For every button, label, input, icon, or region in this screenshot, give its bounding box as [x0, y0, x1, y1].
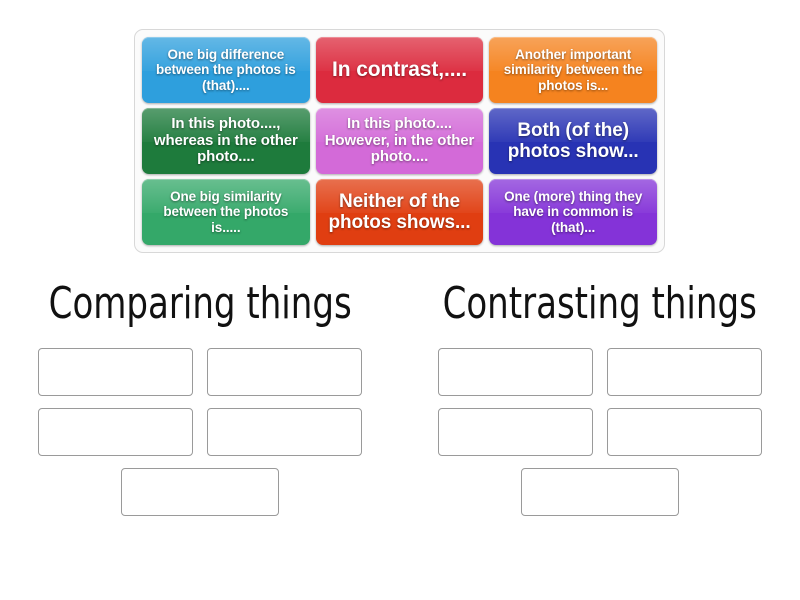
dropzone-slot[interactable]	[207, 408, 362, 456]
tile-label: Neither of the photos shows...	[321, 191, 479, 234]
draggable-tile[interactable]: In contrast,....	[316, 37, 484, 103]
draggable-tile[interactable]: One (more) thing they have in common is …	[489, 179, 657, 245]
dropzone-slot[interactable]	[38, 348, 193, 396]
draggable-tile[interactable]: Both (of the) photos show...	[489, 108, 657, 174]
group-column-comparing: Comparing things	[0, 282, 400, 516]
draggable-tile[interactable]: In this photo.... However, in the other …	[316, 108, 484, 174]
tile-label: One big difference between the photos is…	[147, 47, 305, 92]
dropzone-grid	[425, 348, 775, 516]
draggable-tile[interactable]: Neither of the photos shows...	[316, 179, 484, 245]
group-title: Contrasting things	[443, 282, 757, 326]
tile-label: In this photo...., whereas in the other …	[147, 116, 305, 166]
draggable-tile[interactable]: In this photo...., whereas in the other …	[142, 108, 310, 174]
draggable-tile[interactable]: Another important similarity between the…	[489, 37, 657, 103]
dropzone-slot[interactable]	[207, 348, 362, 396]
dropzone-slot[interactable]	[521, 468, 679, 516]
tile-label: Another important similarity between the…	[494, 47, 652, 92]
dropzone-slot[interactable]	[607, 408, 762, 456]
tile-label: In contrast,....	[332, 58, 467, 82]
dropzone-slot[interactable]	[121, 468, 279, 516]
draggable-tiles-tray: One big difference between the photos is…	[134, 29, 665, 253]
tile-grid: One big difference between the photos is…	[142, 37, 657, 245]
tile-label: Both (of the) photos show...	[494, 120, 652, 163]
group-title: Comparing things	[48, 282, 351, 326]
tile-label: In this photo.... However, in the other …	[321, 116, 479, 166]
group-column-contrasting: Contrasting things	[400, 282, 800, 516]
dropzone-grid	[25, 348, 375, 516]
group-columns: Comparing thingsContrasting things	[0, 282, 800, 516]
draggable-tile[interactable]: One big similarity between the photos is…	[142, 179, 310, 245]
dropzone-slot[interactable]	[438, 408, 593, 456]
tile-label: One big similarity between the photos is…	[147, 189, 305, 234]
dropzone-slot[interactable]	[607, 348, 762, 396]
draggable-tile[interactable]: One big difference between the photos is…	[142, 37, 310, 103]
dropzone-slot[interactable]	[38, 408, 193, 456]
dropzone-slot[interactable]	[438, 348, 593, 396]
tile-label: One (more) thing they have in common is …	[494, 189, 652, 234]
